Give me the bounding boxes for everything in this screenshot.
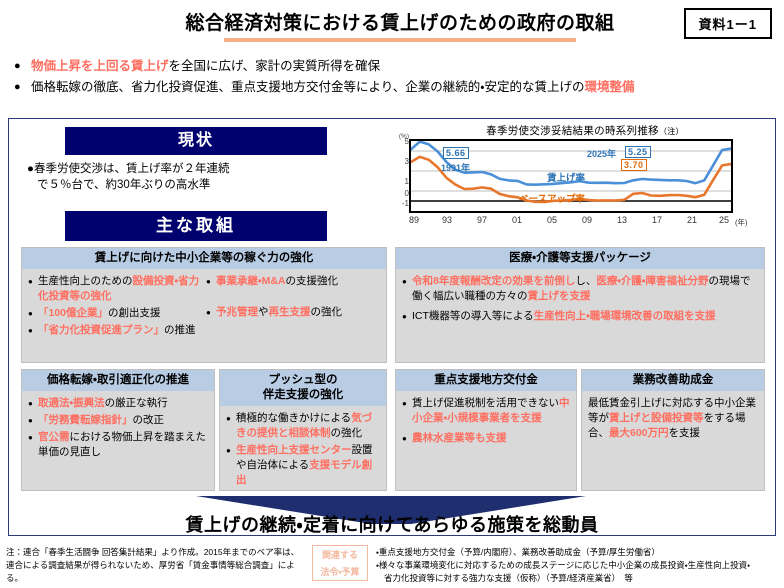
chart-legend-base-up-rate: ベースアップ率 (519, 191, 585, 205)
x-tick-89: 89 (409, 215, 419, 225)
bullet-dot-icon: ● (28, 396, 38, 411)
item-post: の強化 (331, 427, 363, 439)
bullet-dot-icon: ● (28, 430, 38, 445)
item-post: の推進 (164, 324, 196, 336)
card-priority-regional-grant-header: 重点支援地方交付金 (396, 370, 576, 391)
chart-label-2025-year: 2025年 (587, 147, 616, 160)
chart-footnote-line-2: 連合による調査結果が得られないため、厚労省「賃金事情等総合調査」による。 (6, 559, 306, 585)
lead-2-plain: 価格転嫁の徹底、省力化投資促進、重点支援地方交付金等により、企業の継続的・安定的… (31, 80, 585, 94)
item-highlight: 取適法・振興法 (38, 397, 105, 409)
card-price-pass-through-body: ●取適法・振興法の厳正な執行 ●「労務費転嫁指針」の改正 ●官公需における物価上… (22, 391, 214, 466)
item-pre: 積極的な働きかけによる (236, 412, 351, 424)
chart-footnote: 注：連合「春季生活闘争 回答集計結果」より作成。2015年までのベア率は、 連合… (6, 546, 306, 585)
item-highlight: 生産性向上支援センター (236, 444, 352, 456)
list-item-text: 賃上げ促進税制を活用できない中小企業・小規模事業者を支援 (412, 396, 570, 426)
current-status-text: ●春季労使交渉は、賃上げ率が２年連続 で５％台で、約30年ぶりの高水準 (27, 161, 357, 193)
lead-bullet-list: ● 物価上昇を上回る賃上げを全国に広げ、家計の実質所得を確保 ● 価格転嫁の徹底… (14, 56, 784, 98)
card-business-improvement-subsidy-header: 業務改善助成金 (582, 370, 764, 391)
chart-x-axis-unit: (年) (735, 217, 748, 228)
bullet-dot-icon: ● (402, 274, 412, 289)
card-priority-regional-grant-body: ●賃上げ促進税制を活用できない中小企業・小規模事業者を支援 ●農林水産業等も支援 (396, 391, 576, 452)
chart-callout-2025-wage-value: 5.25 (625, 146, 651, 158)
list-item-text: 生産性向上のための設備投資・省力化投資等の強化 (38, 274, 202, 304)
list-item: ●積極的な働きかけによる気づきの提供と相談体制の強化 (226, 411, 380, 441)
card-medical-nursing-package-header: 医療・介護等支援パッケージ (396, 248, 764, 269)
bullet-dot-icon: ● (402, 431, 412, 446)
page-header: 総合経済対策における賃上げのための政府の取組 資料1ー1 (0, 0, 784, 52)
x-tick-97: 97 (477, 215, 487, 225)
list-item-text: 取適法・振興法の厳正な執行 (38, 396, 208, 411)
bullet-dot-icon: ● (14, 56, 25, 77)
chart-title-text: 春季労使交渉妥結結果の時系列推移 (486, 125, 659, 137)
related-tag-line-1: 関連する (313, 548, 367, 561)
push-head-line-1: プッシュ型の (220, 373, 386, 388)
bullet-dot-icon: ● (206, 305, 216, 320)
lead-bullet-2: ● 価格転嫁の徹底、省力化投資促進、重点支援地方交付金等により、企業の継続的・安… (14, 77, 784, 98)
current-status-line-1: ●春季労使交渉は、賃上げ率が２年連続 (27, 163, 229, 175)
x-tick-05: 05 (547, 215, 557, 225)
chart-legend-wage-increase-rate: 賃上げ率 (547, 170, 585, 184)
item-highlight-3: 賃上げを支援 (528, 290, 591, 302)
x-tick-17: 17 (652, 215, 662, 225)
lead-bullet-2-text: 価格転嫁の徹底、省力化投資促進、重点支援地方交付金等により、企業の継続的・安定的… (31, 77, 635, 98)
x-tick-21: 21 (687, 215, 697, 225)
lead-bullet-1-text: 物価上昇を上回る賃上げを全国に広げ、家計の実質所得を確保 (31, 56, 380, 77)
section-header-current-status: 現状 (65, 127, 327, 155)
list-item-text: 「省力化投資促進プラン」の推進 (38, 323, 202, 338)
bullet-dot-icon: ● (402, 396, 412, 411)
list-item: ●取適法・振興法の厳正な執行 (28, 396, 208, 411)
card-price-pass-through: 価格転嫁・取引適正化の推進 ●取適法・振興法の厳正な執行 ●「労務費転嫁指針」の… (21, 369, 215, 491)
list-item-text: 予兆管理や再生支援の強化 (216, 305, 380, 320)
item-highlight: 官公需 (38, 431, 70, 443)
card-sme-earning-strength-body: ●生産性向上のための設備投資・省力化投資等の強化 ●「100億企業」の創出支援 … (22, 269, 386, 344)
item-pre: 生産性向上のための (38, 275, 133, 287)
card-medical-nursing-package: 医療・介護等支援パッケージ ●令和8年度報酬改定の効果を前倒しし、医療・介護・障… (395, 247, 765, 363)
list-item: ●農林水産業等も支援 (402, 431, 570, 446)
list-item: ●官公需における物価上昇を踏まえた単価の見直し (28, 430, 208, 460)
item-highlight: 農林水産業等も支援 (412, 432, 507, 444)
list-item-text: 事業承継・M&Aの支援強化 (216, 274, 380, 289)
item-highlight: 令和8年度報酬改定の効果を前倒し (412, 275, 575, 287)
card-push-type-support: プッシュ型の 伴走支援の強化 ●積極的な働きかけによる気づきの提供と相談体制の強… (219, 369, 387, 491)
x-tick-01: 01 (512, 215, 522, 225)
item-highlight: 賃上げと設備投資等 (609, 412, 704, 424)
sme-left-column: ●生産性向上のための設備投資・省力化投資等の強化 ●「100億企業」の創出支援 … (28, 274, 202, 340)
item-pre: ICT機器等の導入等による (412, 310, 534, 322)
list-item: ●事業承継・M&Aの支援強化 (206, 274, 380, 289)
card-price-pass-through-header: 価格転嫁・取引適正化の推進 (22, 370, 214, 391)
title-underline (224, 38, 576, 42)
subsidy-text: 最低賃金引上げに対応する中小企業等が賃上げと設備投資等をする場合、最大600万円… (588, 396, 758, 441)
bullet-dot-icon: ● (226, 411, 236, 426)
summary-banner: 賃上げの継続・定着に向けてあらゆる施策を総動員 (8, 510, 776, 540)
card-priority-regional-grant: 重点支援地方交付金 ●賃上げ促進税制を活用できない中小企業・小規模事業者を支援 … (395, 369, 577, 491)
list-item-text: ICT機器等の導入等による生産性向上・職場環境改善の取組を支援 (412, 309, 758, 324)
item-pre: 賃上げ促進税制を活用できない (412, 397, 559, 409)
related-item-2: ・様々な事業環境変化に対応するための成長ステージに応じた中小企業の成長投資・生産… (376, 559, 782, 572)
item-highlight: 予兆管理 (216, 306, 258, 318)
item-highlight-2: 再生支援 (269, 306, 311, 318)
lead-bullet-1: ● 物価上昇を上回る賃上げを全国に広げ、家計の実質所得を確保 (14, 56, 784, 77)
lead-1-rest: を全国に広げ、家計の実質所得を確保 (169, 59, 381, 73)
chart-y-axis: (%) 5 3 1 0 -1 (397, 135, 409, 215)
chart-callout-1991-value: 5.66 (443, 147, 469, 159)
list-item: ●ICT機器等の導入等による生産性向上・職場環境改善の取組を支援 (402, 309, 758, 324)
card-push-type-support-body: ●積極的な働きかけによる気づきの提供と相談体制の強化 ●生産性向上支援センター設… (220, 406, 386, 494)
list-item-text: 令和8年度報酬改定の効果を前倒しし、医療・介護・障害福祉分野の現場で働く幅広い職… (412, 274, 758, 304)
list-item: ●生産性向上のための設備投資・省力化投資等の強化 (28, 274, 202, 304)
item-post: の支援強化 (285, 275, 338, 287)
card-business-improvement-subsidy: 業務改善助成金 最低賃金引上げに対応する中小企業等が賃上げと設備投資等をする場合… (581, 369, 765, 491)
card-sme-earning-strength: 賃上げに向けた中小企業等の稼ぐ力の強化 ●生産性向上のための設備投資・省力化投資… (21, 247, 387, 363)
related-laws-budget-list: ・重点支援地方交付金（予算/内閣府）、業務改善助成金（予算/厚生労働省） ・様々… (376, 546, 782, 585)
card-push-type-support-header: プッシュ型の 伴走支援の強化 (220, 370, 386, 406)
list-item-text: 「労務費転嫁指針」の改正 (38, 413, 208, 428)
lead-1-highlight: 物価上昇を上回る賃上げ (31, 59, 169, 73)
x-tick-09: 09 (582, 215, 592, 225)
list-item: ●予兆管理や再生支援の強化 (206, 305, 380, 320)
bullet-dot-icon: ● (14, 77, 25, 98)
list-item: ●「労務費転嫁指針」の改正 (28, 413, 208, 428)
section-header-main-initiatives: 主な取組 (65, 211, 327, 241)
bullet-dot-icon: ● (402, 309, 412, 324)
x-tick-93: 93 (442, 215, 452, 225)
card-sme-earning-strength-header: 賃上げに向けた中小企業等の稼ぐ力の強化 (22, 248, 386, 269)
item-post: の厳正な執行 (105, 397, 168, 409)
list-item: ●令和8年度報酬改定の効果を前倒しし、医療・介護・障害福祉分野の現場で働く幅広い… (402, 274, 758, 304)
x-tick-25: 25 (719, 215, 729, 225)
chart-title-note: （注） (659, 127, 684, 136)
lead-2-highlight: 環境整備 (585, 80, 635, 94)
list-item: ●「省力化投資促進プラン」の推進 (28, 323, 202, 338)
bullet-dot-icon: ● (28, 323, 38, 338)
list-item-text: 「100億企業」の創出支援 (38, 306, 202, 321)
list-item: ●生産性向上支援センター設置や自治体による支援モデル創出 (226, 443, 380, 488)
item-mid: や (258, 306, 269, 318)
item-highlight: 「労務費転嫁指針」 (38, 414, 133, 426)
bullet-dot-icon: ● (206, 274, 216, 289)
list-item: ●「100億企業」の創出支援 (28, 306, 202, 321)
item-highlight: 「100億企業」 (38, 307, 108, 319)
item-highlight-2: 医療・介護・障害福祉分野 (596, 275, 708, 287)
card-medical-nursing-package-body: ●令和8年度報酬改定の効果を前倒しし、医療・介護・障害福祉分野の現場で働く幅広い… (396, 269, 764, 330)
item-post: の改正 (133, 414, 165, 426)
page-title-wrap: 総合経済対策における賃上げのための政府の取組 (170, 8, 630, 42)
list-item-text: 生産性向上支援センター設置や自治体による支援モデル創出 (236, 443, 380, 488)
chart-callout-2025-baseup-value: 3.70 (621, 159, 647, 171)
wage-negotiation-chart: 春季労使交渉妥結結果の時系列推移（注） (%) 5 3 1 0 -1 5.66 (397, 123, 767, 235)
item-highlight: 事業承継・M&A (216, 275, 285, 287)
document-number-badge: 資料1ー1 (684, 8, 772, 39)
item-mid: し、 (575, 275, 596, 287)
related-item-2-cont: 省力化投資等に対する強力な支援（仮称）（予算/経済産業省） 等 (376, 572, 782, 585)
chart-label-1991-year: 1991年 (441, 161, 470, 174)
list-item-text: 積極的な働きかけによる気づきの提供と相談体制の強化 (236, 411, 380, 441)
item-post: の強化 (311, 306, 343, 318)
item-highlight-2: 最大600万円 (609, 427, 669, 439)
main-content-frame: 現状 ●春季労使交渉は、賃上げ率が２年連続 で５％台で、約30年ぶりの高水準 主… (8, 118, 776, 536)
slide-page: 総合経済対策における賃上げのための政府の取組 資料1ー1 ● 物価上昇を上回る賃… (0, 0, 784, 588)
page-title: 総合経済対策における賃上げのための政府の取組 (170, 8, 630, 35)
related-tag-line-2: 法令・予算 (313, 565, 367, 578)
related-laws-budget-tag: 関連する 法令・予算 (312, 545, 368, 581)
push-head-line-2: 伴走支援の強化 (220, 388, 386, 403)
list-item-text: 官公需における物価上昇を踏まえた単価の見直し (38, 430, 208, 460)
item-post: を支援 (669, 427, 701, 439)
item-highlight: 生産性向上・職場環境改善の取組を支援 (534, 310, 716, 322)
list-item: ●賃上げ促進税制を活用できない中小企業・小規模事業者を支援 (402, 396, 570, 426)
card-business-improvement-subsidy-body: 最低賃金引上げに対応する中小企業等が賃上げと設備投資等をする場合、最大600万円… (582, 391, 764, 445)
related-item-1: ・重点支援地方交付金（予算/内閣府）、業務改善助成金（予算/厚生労働省） (376, 546, 782, 559)
list-item-text: 農林水産業等も支援 (412, 431, 570, 446)
sme-right-column: ●事業承継・M&Aの支援強化 ●予兆管理や再生支援の強化 (206, 274, 380, 340)
current-status-line-2: で５％台で、約30年ぶりの高水準 (27, 177, 357, 193)
item-highlight: 「省力化投資促進プラン」 (38, 324, 164, 336)
y-tick-neg1: -1 (402, 199, 409, 208)
x-tick-13: 13 (617, 215, 627, 225)
bullet-dot-icon: ● (28, 274, 38, 289)
bullet-dot-icon: ● (28, 306, 38, 321)
chart-title: 春季労使交渉妥結結果の時系列推移（注） (403, 123, 767, 138)
bullet-dot-icon: ● (28, 413, 38, 428)
chart-footnote-line-1: 注：連合「春季生活闘争 回答集計結果」より作成。2015年までのベア率は、 (6, 546, 306, 559)
bullet-dot-icon: ● (226, 443, 236, 458)
item-post: の創出支援 (108, 307, 161, 319)
